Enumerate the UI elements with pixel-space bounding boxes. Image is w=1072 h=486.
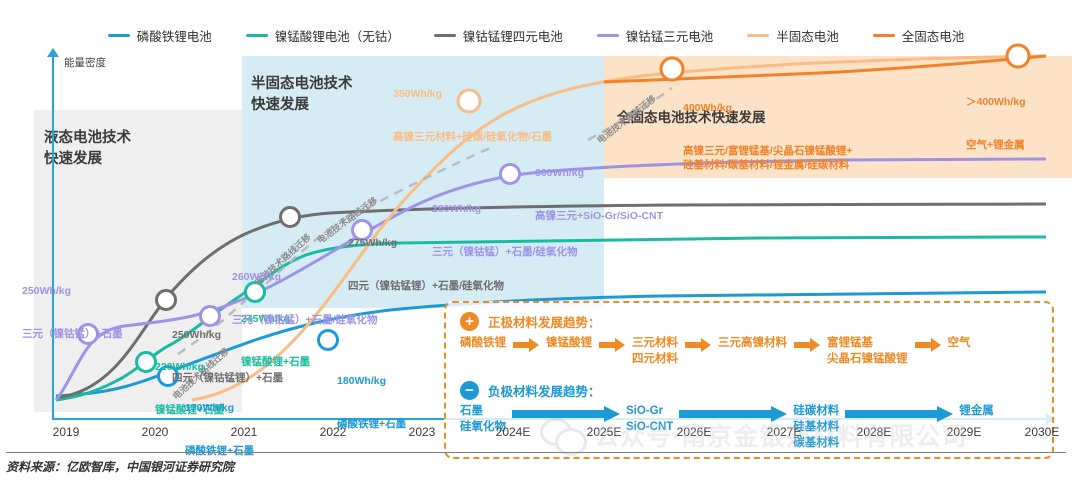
annotation-ncm-250: 250Wh/kg 三元（镍钴锰）+石墨 (22, 256, 123, 369)
arrow-right-icon (685, 338, 711, 352)
arrow-right-icon (845, 406, 953, 422)
xtick-2020: 2020 (142, 425, 169, 439)
xtick-2025E: 2025E (587, 425, 622, 439)
xtick-2030E: 2030E (1025, 425, 1060, 439)
annotation-value-semisolid-350: 350Wh/kg (393, 87, 552, 101)
marker-quaternary-275 (281, 208, 300, 227)
legend-label-semisolid: 半固态电池 (776, 26, 839, 45)
minus-icon: − (460, 381, 479, 400)
annotation-material-lnmo-245: 镍锰酸锂+石墨 (241, 355, 310, 369)
annotation-value-lfp-180: 180Wh/kg (337, 374, 406, 388)
marker-allsolid-400 (661, 58, 683, 80)
arrow-right-icon (513, 338, 539, 352)
annotation-semisolid-350: 350Wh/kg 高镍三元材料+硅碳/硅氧化物/石墨 (393, 59, 552, 172)
legend-swatch-semisolid (747, 34, 769, 37)
cathode-step-3: 三元材料 四元材料 (632, 336, 678, 368)
cathode-step-2: 镍锰酸锂 (546, 336, 592, 352)
legend-item-semisolid: 半固态电池 (747, 26, 839, 45)
legend-swatch-lfp (108, 34, 130, 37)
xtick-2026E: 2026E (677, 425, 712, 439)
annotation-value-lfp-170: 170Wh/kg (185, 401, 254, 415)
legend-swatch-quaternary (434, 34, 456, 37)
arrow-right-icon (512, 406, 620, 422)
legend-item-lfp: 磷酸铁锂电池 (108, 26, 212, 45)
legend-label-quaternary: 镍钴锰锂四元电池 (463, 26, 563, 45)
arrow-right-icon (915, 338, 941, 352)
anode-trend-title: 负极材料发展趋势： (488, 381, 601, 400)
chart-legend: 磷酸铁锂电池 镍锰酸锂电池（无钴） 镍钴锰锂四元电池 镍钴锰三元电池 半固态电池… (0, 22, 1072, 48)
cathode-trend-row: 磷酸铁锂 镍锰酸锂 三元材料 四元材料 三元高镍材料 富锂锰基 尖晶石镍锰酸锂 … (460, 336, 1042, 368)
arrow-right-icon (794, 338, 820, 352)
annotation-allsolid-400: 400Wh/kg 高镍三元/富锂锰基/尖晶石镍锰酸锂+ 硅基材料/碳基材料/锂金… (683, 73, 852, 201)
legend-label-allsolid: 全固态电池 (902, 26, 965, 45)
cathode-trend-title: 正极材料发展趋势： (488, 312, 601, 331)
arrow-right-icon (679, 406, 787, 422)
xtick-2019: 2019 (53, 425, 80, 439)
xtick-2022: 2022 (320, 425, 347, 439)
legend-label-lnmo: 镍锰酸锂电池（无钴） (275, 26, 400, 45)
annotation-material-ncm-250: 三元（镍钴锰）+石墨 (22, 327, 123, 341)
annotation-material-ncm-300: 高镍三元+SiO-Gr/SiO-CNT (535, 209, 663, 223)
x-axis-tick-labels: 2019 2020 2021 2022 2023 2024E 2025E 202… (0, 425, 1072, 445)
marker-allsolid-400plus (1007, 45, 1029, 67)
xtick-2028E: 2028E (857, 425, 892, 439)
marker-lnmo-220 (137, 353, 156, 372)
cathode-step-6: 空气 (948, 336, 971, 352)
cathode-step-4: 三元高镍材料 (718, 336, 787, 352)
legend-item-lnmo: 镍锰酸锂电池（无钴） (246, 26, 400, 45)
xtick-2023: 2023 (409, 425, 436, 439)
anode-step-4: 锂金属 (959, 404, 994, 420)
legend-item-allsolid: 全固态电池 (873, 26, 965, 45)
legend-swatch-lnmo (246, 34, 268, 37)
legend-item-ncm: 镍钴锰三元电池 (597, 26, 714, 45)
annotation-material-lfp-170: 磷酸铁锂+石墨 (185, 444, 254, 458)
xtick-2024E: 2024E (496, 425, 531, 439)
annotation-value-allsolid-400plus: ＞400Wh/kg (966, 95, 1026, 109)
annotation-value-allsolid-400: 400Wh/kg (683, 101, 852, 115)
annotation-value-ncm-250: 250Wh/kg (22, 284, 123, 298)
annotation-ncm-300: 300Wh/kg 高镍三元+SiO-Gr/SiO-CNT (535, 138, 663, 251)
cathode-step-5: 富锂锰基 尖晶石镍锰酸锂 (827, 336, 908, 368)
legend-swatch-ncm (597, 34, 619, 37)
anode-trend-header: − 负极材料发展趋势： (460, 381, 601, 400)
arrow-right-icon (599, 338, 625, 352)
annotation-allsolid-400plus: ＞400Wh/kg 空气+锂金属 (966, 67, 1026, 180)
cathode-trend-header: + 正极材料发展趋势： (460, 312, 601, 331)
legend-swatch-allsolid (873, 34, 895, 37)
footer-divider (6, 452, 1066, 453)
legend-label-lfp: 磷酸铁锂电池 (137, 26, 212, 45)
chart-plot-area: 液态电池技术 快速发展 半固态电池技术 快速发展 全固态电池技术快速发展 能量密… (0, 48, 1072, 423)
annotation-material-allsolid-400plus: 空气+锂金属 (966, 138, 1026, 152)
cathode-step-1: 磷酸铁锂 (460, 336, 506, 352)
xtick-2027E: 2027E (767, 425, 802, 439)
annotation-value-ncm-300: 300Wh/kg (535, 166, 663, 180)
xtick-2029E: 2029E (947, 425, 982, 439)
legend-item-quaternary: 镍钴锰锂四元电池 (434, 26, 563, 45)
annotation-material-allsolid-400: 高镍三元/富锂锰基/尖晶石镍锰酸锂+ 硅基材料/碳基材料/锂金属/硅碳材料 (683, 144, 852, 172)
plus-icon: + (460, 312, 479, 331)
source-note: 资料来源：亿欧智库，中国银河证券研究院 (6, 458, 234, 475)
annotation-material-semisolid-350: 高镍三元材料+硅碳/硅氧化物/石墨 (393, 130, 552, 144)
xtick-2021: 2021 (231, 425, 258, 439)
legend-label-ncm: 镍钴锰三元电池 (626, 26, 714, 45)
